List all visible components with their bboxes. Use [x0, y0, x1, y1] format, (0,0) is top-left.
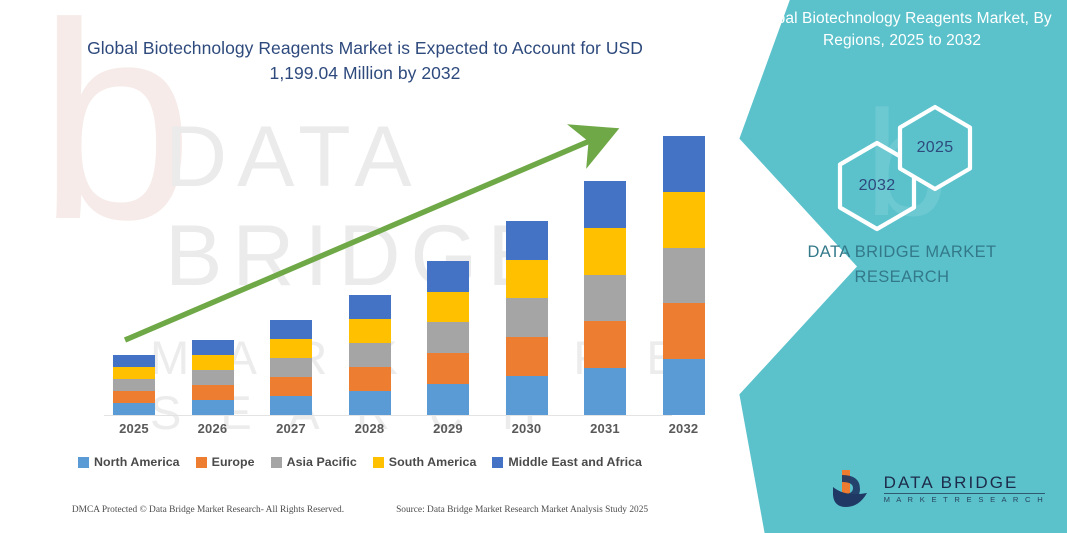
panel-brand-text: DATA BRIDGE MARKET RESEARCH: [737, 240, 1067, 290]
logo-name: DATA BRIDGE: [884, 474, 1045, 492]
hexagon-badge-2032-label: 2032: [859, 177, 896, 195]
hexagon-badge-2025-label: 2025: [917, 139, 954, 157]
panel-brand-line2: RESEARCH: [737, 265, 1067, 290]
panel-brand-line1: DATA BRIDGE MARKET: [737, 240, 1067, 265]
company-logo: DATA BRIDGE M A R K E T R E S E A R C H: [829, 467, 1045, 511]
logo-wordmark: DATA BRIDGE M A R K E T R E S E A R C H: [884, 474, 1045, 505]
infographic-canvas: b DATA BRIDGE M A R K E T R E S E A R C …: [0, 0, 1067, 533]
logo-divider: [884, 493, 1045, 494]
data-bridge-logo-icon: [829, 467, 875, 511]
hexagon-badge-2025: 2025: [896, 104, 974, 192]
logo-tagline: M A R K E T R E S E A R C H: [884, 496, 1045, 504]
